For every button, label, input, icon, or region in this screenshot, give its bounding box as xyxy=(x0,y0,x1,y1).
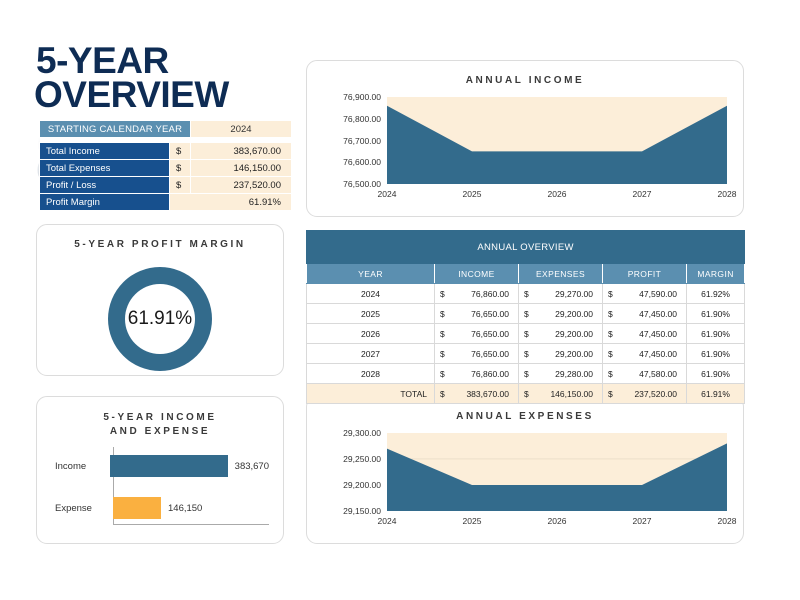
x-tick-label: 2028 xyxy=(718,189,737,199)
bar-rect-expense xyxy=(113,497,161,519)
total-currency: $ xyxy=(435,384,452,404)
annual-income-y-axis: 76,900.00 76,800.00 76,700.00 76,600.00 … xyxy=(323,97,385,184)
cell-currency: $ xyxy=(435,284,452,304)
annual-expenses-svg xyxy=(387,433,727,511)
starting-year-label: STARTING CALENDAR YEAR xyxy=(40,121,191,138)
cell-margin: 61.90% xyxy=(687,364,745,384)
annual-expenses-y-axis: 29,300.00 29,250.00 29,200.00 29,150.00 xyxy=(323,433,385,511)
bar-value-income: 383,670 xyxy=(235,461,269,472)
cell-profit: 47,590.00 xyxy=(620,284,687,304)
annual-income-area-series xyxy=(387,97,727,184)
total-expenses-value: 146,150.00 xyxy=(191,160,292,177)
table-total-row: TOTAL $ 383,670.00 $ 146,150.00 $ 237,52… xyxy=(307,384,745,404)
y-tick-label: 29,200.00 xyxy=(343,480,381,490)
profit-margin-value: 61.91% xyxy=(170,194,292,211)
cell-year: 2025 xyxy=(307,304,435,324)
y-tick-label: 29,150.00 xyxy=(343,506,381,516)
cell-profit: 47,450.00 xyxy=(620,344,687,364)
profit-loss-currency: $ xyxy=(170,177,191,194)
bar-row-expense: Expense 146,150 xyxy=(55,497,269,519)
cell-profit: 47,580.00 xyxy=(620,364,687,384)
x-tick-label: 2026 xyxy=(548,189,567,199)
x-tick-label: 2026 xyxy=(548,516,567,526)
x-tick-label: 2027 xyxy=(633,516,652,526)
cell-expenses: 29,200.00 xyxy=(536,304,603,324)
y-tick-label: 76,800.00 xyxy=(343,114,381,124)
cell-year: 2026 xyxy=(307,324,435,344)
overview-table-title-row: ANNUAL OVERVIEW xyxy=(307,231,745,264)
cell-year: 2027 xyxy=(307,344,435,364)
overview-table-title: ANNUAL OVERVIEW xyxy=(307,231,745,264)
bar-chart-x-axis xyxy=(113,524,269,525)
cell-profit: 47,450.00 xyxy=(620,324,687,344)
cell-income: 76,860.00 xyxy=(452,284,519,304)
overview-table-header-row: YEAR INCOME EXPENSES PROFIT MARGIN xyxy=(307,264,745,284)
total-expenses-currency: $ xyxy=(170,160,191,177)
profit-margin-donut-card: 5-YEAR PROFIT MARGIN 61.91% xyxy=(36,224,284,376)
bar-rect-income xyxy=(110,455,228,477)
profit-margin-donut-chart: 61.91% xyxy=(108,267,212,371)
column-header-margin[interactable]: MARGIN xyxy=(687,264,745,284)
x-tick-label: 2027 xyxy=(633,189,652,199)
y-tick-label: 29,250.00 xyxy=(343,454,381,464)
summary-row-total-expenses: Total Expenses $ 146,150.00 xyxy=(40,160,292,177)
cell-currency: $ xyxy=(519,344,536,364)
column-header-year[interactable]: YEAR xyxy=(307,264,435,284)
bar-value-expense: 146,150 xyxy=(168,503,202,514)
cell-expenses: 29,200.00 xyxy=(536,324,603,344)
cell-income: 76,650.00 xyxy=(452,304,519,324)
x-tick-label: 2028 xyxy=(718,516,737,526)
cell-currency: $ xyxy=(435,364,452,384)
annual-income-svg xyxy=(387,97,727,184)
profit-loss-value: 237,520.00 xyxy=(191,177,292,194)
x-tick-label: 2024 xyxy=(378,189,397,199)
y-tick-label: 76,900.00 xyxy=(343,92,381,102)
starting-year-value[interactable]: 2024 xyxy=(191,121,292,138)
summary-row-profit-margin: Profit Margin 61.91% xyxy=(40,194,292,211)
bar-card-title: 5-YEAR INCOME AND EXPENSE xyxy=(37,411,283,438)
total-expenses: 146,150.00 xyxy=(536,384,603,404)
cell-year: 2024 xyxy=(307,284,435,304)
cell-currency: $ xyxy=(603,304,620,324)
y-tick-label: 76,700.00 xyxy=(343,136,381,146)
y-tick-label: 76,500.00 xyxy=(343,179,381,189)
column-header-profit[interactable]: PROFIT xyxy=(603,264,687,284)
cell-income: 76,650.00 xyxy=(452,324,519,344)
cell-income: 76,860.00 xyxy=(452,364,519,384)
bar-card-title-line2: AND EXPENSE xyxy=(37,425,283,439)
cell-year: 2028 xyxy=(307,364,435,384)
cell-currency: $ xyxy=(519,284,536,304)
cell-currency: $ xyxy=(603,344,620,364)
cell-currency: $ xyxy=(603,364,620,384)
cell-currency: $ xyxy=(519,364,536,384)
cell-expenses: 29,200.00 xyxy=(536,344,603,364)
profit-margin-label: Profit Margin xyxy=(40,194,170,211)
cell-currency: $ xyxy=(435,304,452,324)
table-row: 2025 $ 76,650.00 $ 29,200.00 $ 47,450.00… xyxy=(307,304,745,324)
annual-expenses-title: ANNUAL EXPENSES xyxy=(307,411,743,422)
total-income-currency: $ xyxy=(170,143,191,160)
cell-currency: $ xyxy=(519,324,536,344)
annual-overview-table-container: ANNUAL OVERVIEW YEAR INCOME EXPENSES PRO… xyxy=(306,230,744,404)
profit-loss-label: Profit / Loss xyxy=(40,177,170,194)
summary-row-total-income: Total Income $ 383,670.00 xyxy=(40,143,292,160)
bar-label-expense: Expense xyxy=(55,503,113,514)
column-header-expenses[interactable]: EXPENSES xyxy=(519,264,603,284)
total-income-value: 383,670.00 xyxy=(191,143,292,160)
total-expenses-label: Total Expenses xyxy=(40,160,170,177)
cell-currency: $ xyxy=(435,344,452,364)
annual-expenses-plot-area: 29,300.00 29,250.00 29,200.00 29,150.00 … xyxy=(323,433,727,533)
annual-income-x-axis: 2024 2025 2026 2027 2028 xyxy=(387,186,727,206)
cell-margin: 61.92% xyxy=(687,284,745,304)
total-income-label: Total Income xyxy=(40,143,170,160)
bar-card-title-line1: 5-YEAR INCOME xyxy=(37,411,283,425)
bar-label-income: Income xyxy=(55,461,110,472)
annual-expenses-x-axis: 2024 2025 2026 2027 2028 xyxy=(387,513,727,533)
cell-income: 76,650.00 xyxy=(452,344,519,364)
y-tick-label: 76,600.00 xyxy=(343,157,381,167)
annual-income-chart-card: ANNUAL INCOME 76,900.00 76,800.00 76,700… xyxy=(306,60,744,217)
table-row: 2028 $ 76,860.00 $ 29,280.00 $ 47,580.00… xyxy=(307,364,745,384)
column-header-income[interactable]: INCOME xyxy=(435,264,519,284)
table-row: 2026 $ 76,650.00 $ 29,200.00 $ 47,450.00… xyxy=(307,324,745,344)
total-currency: $ xyxy=(603,384,620,404)
table-row: 2024 $ 76,860.00 $ 29,270.00 $ 47,590.00… xyxy=(307,284,745,304)
bar-chart-plot-area: Income 383,670 Expense 146,150 xyxy=(55,447,269,525)
total-label: TOTAL xyxy=(307,384,435,404)
x-tick-label: 2024 xyxy=(378,516,397,526)
cell-currency: $ xyxy=(603,284,620,304)
total-currency: $ xyxy=(519,384,536,404)
summary-table: STARTING CALENDAR YEAR 2024 Total Income… xyxy=(39,120,292,211)
annual-expenses-area-series xyxy=(387,433,727,511)
summary-row-profit-loss: Profit / Loss $ 237,520.00 xyxy=(40,177,292,194)
page-title: 5-YEAR OVERVIEW OVERVIEW 5-YEAR xyxy=(36,44,296,122)
donut-center-value: 61.91% xyxy=(108,267,212,371)
cell-profit: 47,450.00 xyxy=(620,304,687,324)
total-income: 383,670.00 xyxy=(452,384,519,404)
page-title-line1: 5-YEAR xyxy=(36,44,296,78)
x-tick-label: 2025 xyxy=(463,189,482,199)
summary-starting-year-row: STARTING CALENDAR YEAR 2024 xyxy=(40,121,292,138)
y-tick-label: 29,300.00 xyxy=(343,428,381,438)
total-profit: 237,520.00 xyxy=(620,384,687,404)
cell-margin: 61.90% xyxy=(687,304,745,324)
cell-expenses: 29,270.00 xyxy=(536,284,603,304)
cell-currency: $ xyxy=(435,324,452,344)
bar-row-income: Income 383,670 xyxy=(55,455,269,477)
total-margin: 61.91% xyxy=(687,384,745,404)
annual-overview-table: ANNUAL OVERVIEW YEAR INCOME EXPENSES PRO… xyxy=(306,230,745,404)
cell-margin: 61.90% xyxy=(687,344,745,364)
page-title-line2: OVERVIEW xyxy=(34,78,296,112)
table-row: 2027 $ 76,650.00 $ 29,200.00 $ 47,450.00… xyxy=(307,344,745,364)
x-tick-label: 2025 xyxy=(463,516,482,526)
cell-expenses: 29,280.00 xyxy=(536,364,603,384)
cell-currency: $ xyxy=(519,304,536,324)
annual-income-title: ANNUAL INCOME xyxy=(307,75,743,86)
annual-expenses-chart-card: ANNUAL EXPENSES 29,300.00 29,250.00 29,2… xyxy=(306,396,744,544)
donut-card-title: 5-YEAR PROFIT MARGIN xyxy=(37,239,283,250)
cell-margin: 61.90% xyxy=(687,324,745,344)
income-expense-bar-card: 5-YEAR INCOME AND EXPENSE Income 383,670… xyxy=(36,396,284,544)
annual-income-plot-area: 76,900.00 76,800.00 76,700.00 76,600.00 … xyxy=(323,97,727,206)
cell-currency: $ xyxy=(603,324,620,344)
